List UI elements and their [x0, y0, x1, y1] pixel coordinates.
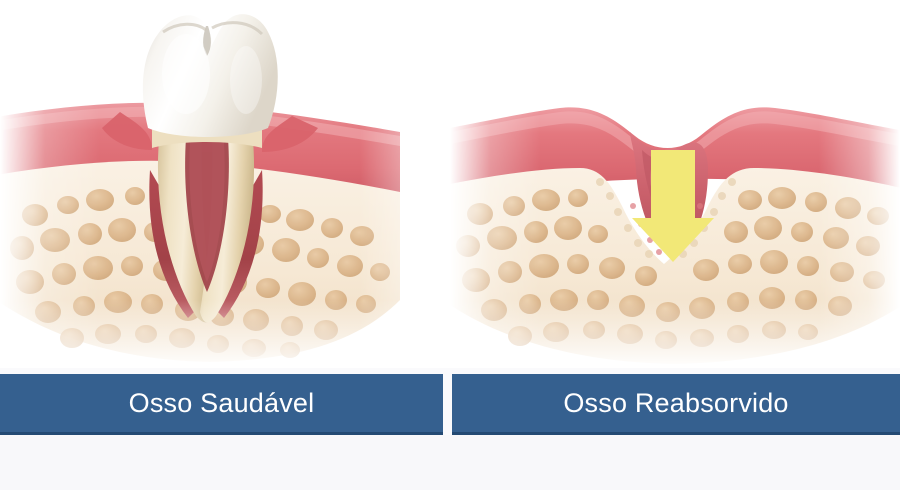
healthy-bone-illustration — [0, 0, 450, 368]
label-cell-resorbed[interactable]: Osso Reabsorvido — [452, 374, 900, 435]
resorbed-bone-illustration — [450, 0, 900, 368]
illustration-area — [0, 0, 900, 368]
label-resorbed: Osso Reabsorvido — [563, 388, 788, 419]
label-healthy: Osso Saudável — [129, 388, 315, 419]
label-divider — [443, 374, 452, 432]
dental-comparison-figure: Osso Saudável Osso Reabsorvido — [0, 0, 900, 490]
label-bar: Osso Saudável Osso Reabsorvido — [0, 374, 900, 432]
bottom-filler — [0, 435, 900, 490]
label-cell-healthy[interactable]: Osso Saudável — [0, 374, 443, 435]
